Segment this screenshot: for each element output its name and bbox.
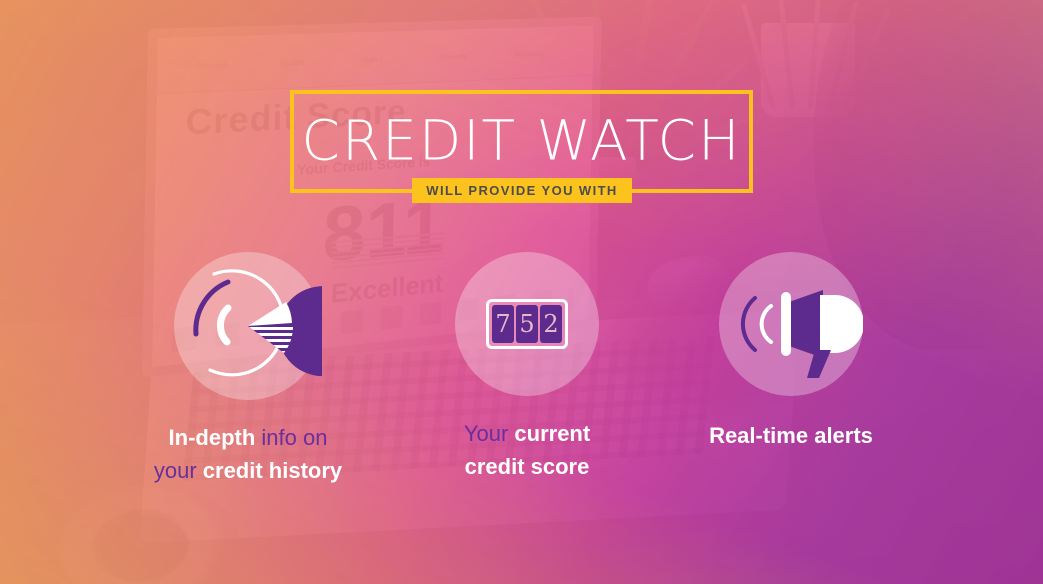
feature-icon-circle: 7 5 2	[455, 252, 599, 396]
score-digit: 5	[516, 305, 538, 343]
feature-item-credit-score: 7 5 2 Your current credit score	[397, 252, 657, 483]
feature-caption: Your current credit score	[397, 418, 657, 483]
page-title: CREDIT WATCH	[294, 113, 749, 168]
caption-bold-1: current	[514, 421, 590, 446]
caption-bold-2: credit score	[465, 454, 590, 479]
pie-chart-icon	[174, 252, 322, 400]
score-digit: 2	[540, 305, 562, 343]
caption-bold-1: Real-time alerts	[709, 423, 873, 448]
feature-caption: Real-time alerts	[661, 420, 921, 453]
promo-banner: Overview Factors History Simulator Monit…	[0, 0, 1043, 584]
caption-light-1: info on	[255, 425, 327, 450]
feature-item-realtime-alerts: Real-time alerts	[661, 252, 921, 453]
caption-bold-1: In-depth	[169, 425, 256, 450]
feature-caption: In-depth info on your credit history	[118, 422, 378, 487]
subtitle-banner: WILL PROVIDE YOU WITH	[412, 178, 632, 203]
subtitle-text: WILL PROVIDE YOU WITH	[426, 183, 617, 198]
feature-icon-circle	[174, 252, 322, 400]
caption-bold-2: credit history	[203, 458, 342, 483]
score-digit: 7	[492, 305, 514, 343]
caption-light-1: Your	[464, 421, 515, 446]
caption-light-2: your	[154, 458, 203, 483]
credit-score-digits-icon: 7 5 2	[486, 299, 568, 349]
feature-icon-circle	[719, 252, 863, 396]
feature-item-credit-history: In-depth info on your credit history	[118, 252, 378, 487]
megaphone-icon	[719, 252, 863, 396]
